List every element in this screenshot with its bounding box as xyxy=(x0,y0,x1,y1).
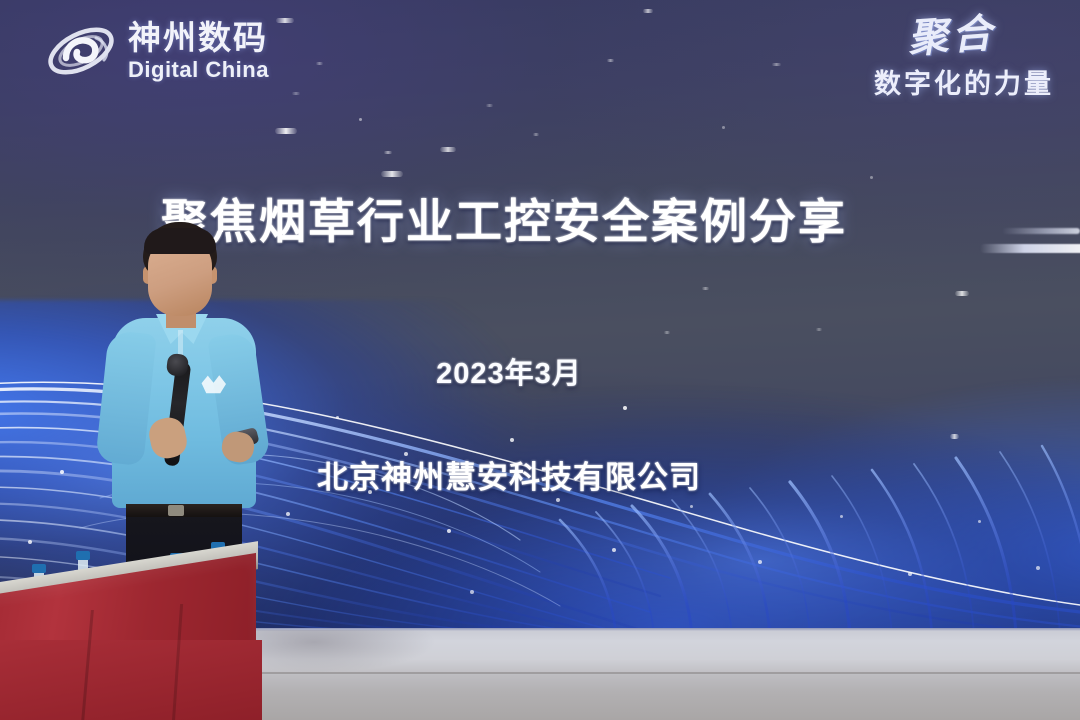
brand-chinese-name: 神州数码 xyxy=(128,21,269,54)
conference-stage-photo: 神州数码 Digital China 聚合 数字化的力量 聚焦烟草行业工控安全案… xyxy=(0,0,1080,720)
presenter-hair-fringe xyxy=(144,228,216,254)
presenter-belt xyxy=(126,504,242,517)
bottle-cap xyxy=(76,551,90,560)
brand-english-name: Digital China xyxy=(128,59,269,81)
slogan-calligraphy: 聚合 xyxy=(803,13,997,66)
swirl-galaxy-icon xyxy=(44,18,118,84)
bottle-cap xyxy=(32,564,46,573)
slogan-subtitle: 数字化的力量 xyxy=(804,62,1054,101)
digital-china-logo: 神州数码 Digital China xyxy=(44,18,269,84)
presenter-belt-buckle xyxy=(168,505,184,516)
event-slogan-logo: 聚合 数字化的力量 xyxy=(804,20,1054,101)
table-cloth-lower xyxy=(0,640,262,720)
